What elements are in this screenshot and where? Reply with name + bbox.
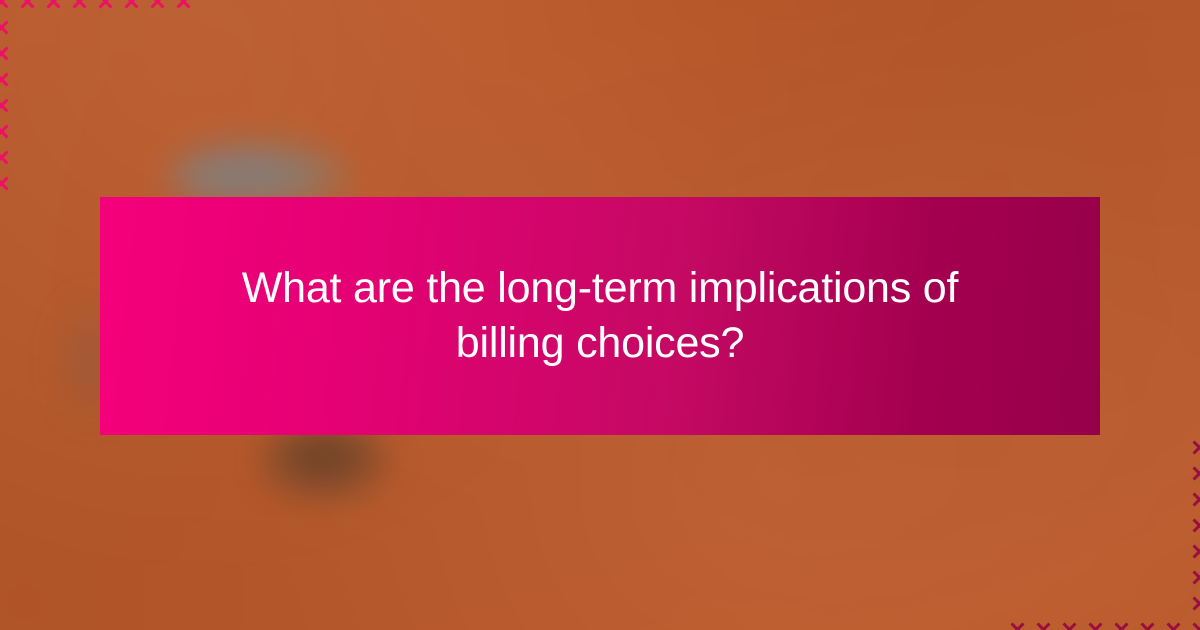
cross-x-icon <box>1186 616 1200 630</box>
cross-x-icon <box>1186 538 1200 564</box>
cross-x-icon <box>144 0 170 14</box>
share-card: What are the long-term implications of b… <box>0 0 1200 630</box>
cross-x-icon <box>1186 564 1200 590</box>
cross-x-icon <box>0 0 14 14</box>
cross-x-icon <box>1160 616 1186 630</box>
cross-x-icon <box>1134 616 1160 630</box>
cross-x-icon <box>0 170 14 196</box>
cross-x-icon <box>1186 512 1200 538</box>
cross-x-icon <box>1108 616 1134 630</box>
cross-x-icon <box>92 0 118 14</box>
headline-banner: What are the long-term implications of b… <box>100 197 1100 435</box>
background-blur-shape-lower <box>258 424 393 502</box>
cross-x-icon <box>0 118 14 144</box>
cross-x-icon <box>1186 486 1200 512</box>
cross-x-icon <box>118 0 144 14</box>
cross-x-icon <box>1030 616 1056 630</box>
cross-x-icon <box>1186 590 1200 616</box>
cross-x-icon <box>0 92 14 118</box>
cross-x-icon <box>0 66 14 92</box>
cross-x-icon <box>1082 616 1108 630</box>
cross-pattern-bottom-right <box>1004 434 1200 630</box>
cross-x-icon <box>0 40 14 66</box>
cross-x-icon <box>0 14 14 40</box>
cross-x-icon <box>170 0 196 14</box>
cross-pattern-top-left <box>0 0 196 196</box>
cross-x-icon <box>1186 434 1200 460</box>
cross-x-icon <box>0 144 14 170</box>
cross-x-icon <box>66 0 92 14</box>
cross-x-icon <box>14 0 40 14</box>
cross-x-icon <box>1186 460 1200 486</box>
cross-x-icon <box>40 0 66 14</box>
cross-x-icon <box>1056 616 1082 630</box>
cross-x-icon <box>1004 616 1030 630</box>
page-title: What are the long-term implications of b… <box>220 261 980 371</box>
